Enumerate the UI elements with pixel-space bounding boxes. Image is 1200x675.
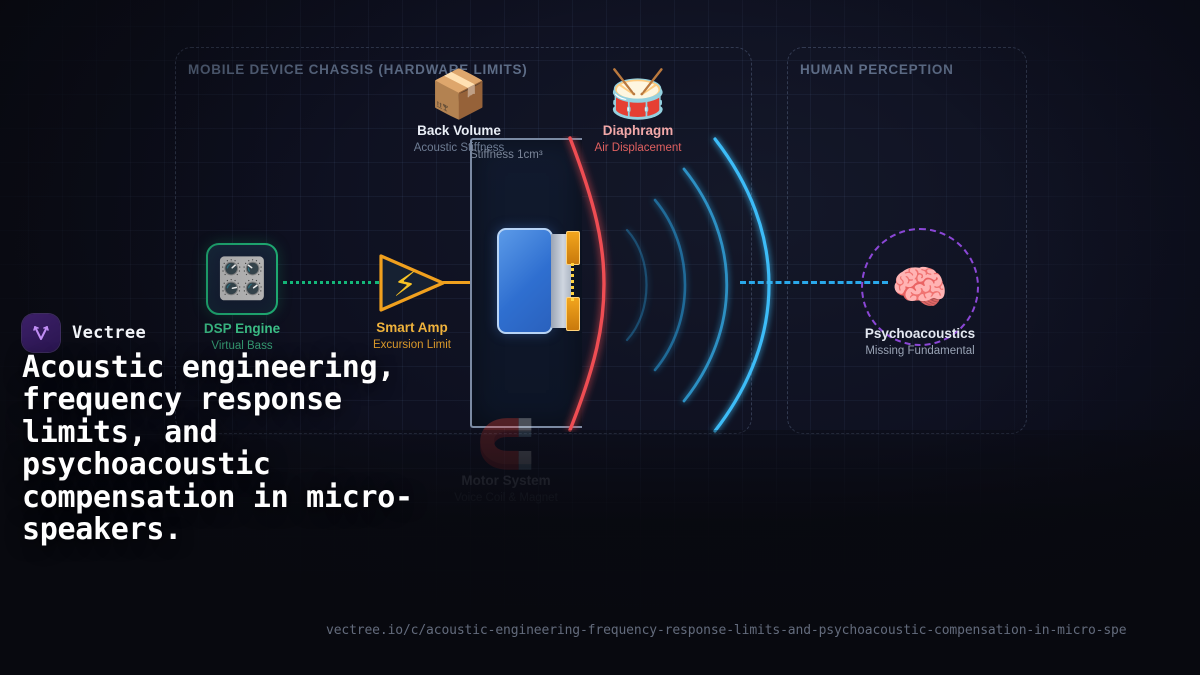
node-psychoacoustics[interactable]: 🧠 Psychoacoustics Missing Fundamental (845, 228, 995, 357)
control-knobs-icon: 🎛️ (217, 259, 267, 299)
amplifier-triangle-icon: ⚡ (375, 252, 449, 314)
infographic-canvas: MOBILE DEVICE CHASSIS (HARDWARE LIMITS) … (0, 0, 1200, 675)
article-url: vectree.io/c/acoustic-engineering-freque… (326, 623, 1126, 638)
node-dsp-engine[interactable]: 🎛️ DSP Engine Virtual Bass (167, 243, 317, 352)
magnet-icon: 🧲 (431, 420, 581, 467)
node-smart-amp[interactable]: ⚡ Smart Amp Excursion Limit (337, 248, 487, 351)
brand-lockup: Vectree (22, 314, 146, 352)
node-motor-system[interactable]: 🧲 Motor System Voice Coil & Magnet (431, 420, 581, 504)
node-back-volume[interactable]: 📦 Back Volume Acoustic Stiffness (384, 70, 534, 154)
svg-text:⚡: ⚡ (393, 265, 417, 305)
node-motor-sub: Voice Coil & Magnet (431, 492, 581, 504)
speaker-magnet-block (497, 228, 553, 334)
drum-icon: 🥁 (563, 70, 713, 117)
annotation-back-volume-measure: Stiffness 1cm³ (470, 149, 543, 161)
brain-icon: 🧠 (891, 264, 948, 310)
node-diaphragm[interactable]: 🥁 Diaphragm Air Displacement (563, 70, 713, 154)
package-box-icon: 📦 (384, 70, 534, 117)
dsp-chip-frame: 🎛️ (206, 243, 278, 315)
node-amp-label: Smart Amp (337, 320, 487, 335)
brand-name: Vectree (72, 323, 146, 343)
vectree-logo-icon (22, 314, 60, 352)
node-motor-label: Motor System (431, 473, 581, 488)
node-dsp-label: DSP Engine (167, 321, 317, 336)
node-psychoacoustics-sub: Missing Fundamental (845, 345, 995, 357)
sound-wave-arcs (595, 130, 865, 440)
headline-text: Acoustic engineering, frequency response… (22, 352, 452, 546)
zone-perception-title: HUMAN PERCEPTION (800, 62, 954, 77)
node-diaphragm-label: Diaphragm (563, 123, 713, 138)
node-back-volume-label: Back Volume (384, 123, 534, 138)
node-psychoacoustics-label: Psychoacoustics (845, 326, 995, 341)
node-diaphragm-sub: Air Displacement (563, 142, 713, 154)
